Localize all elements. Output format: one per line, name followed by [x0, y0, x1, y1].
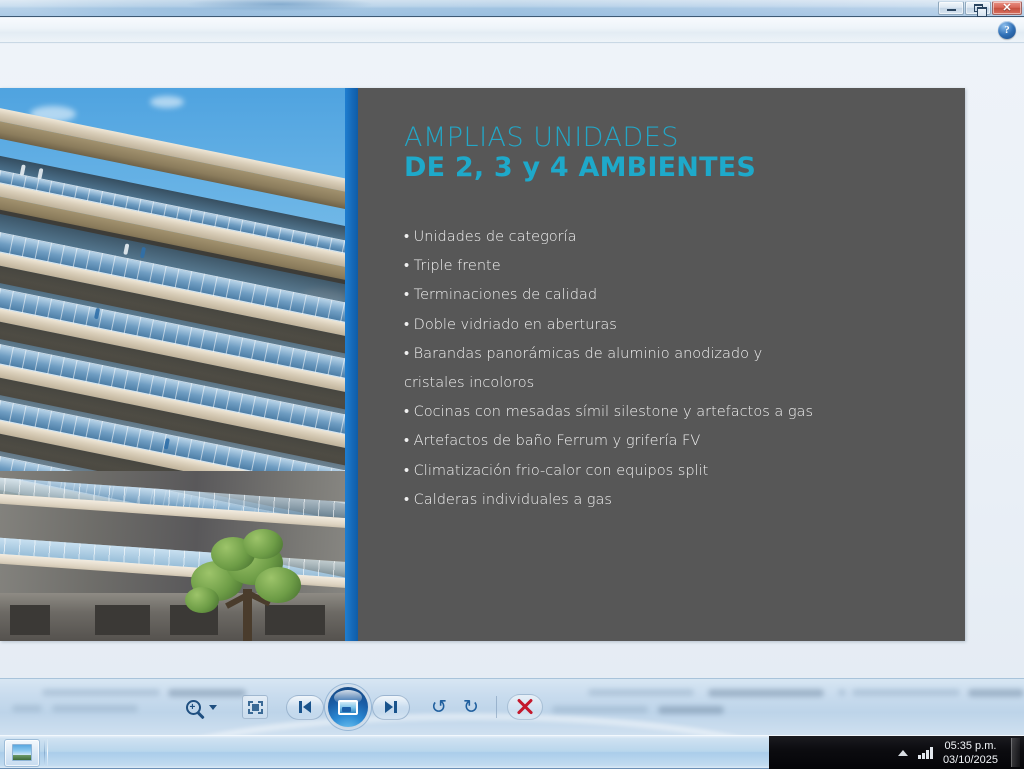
- toolbar-divider: [496, 696, 497, 718]
- fit-to-window-button[interactable]: [242, 695, 268, 719]
- upper-toolbar: ?: [0, 18, 1024, 43]
- list-item: • Doble vidriado en aberturas: [404, 311, 949, 340]
- image-viewer-canvas[interactable]: AMPLIAS UNIDADES DE 2, 3 y 4 AMBIENTES •…: [0, 44, 1024, 678]
- slide-bullet-list: • Unidades de categoría • Triple frente …: [404, 223, 949, 515]
- displayed-image: AMPLIAS UNIDADES DE 2, 3 y 4 AMBIENTES •…: [0, 88, 965, 641]
- list-item: • Climatización frio-calor con equipos s…: [404, 457, 949, 486]
- delete-x-icon: [513, 695, 537, 719]
- list-item: • Cocinas con mesadas símil silestone y …: [404, 398, 949, 427]
- next-button[interactable]: [372, 695, 410, 720]
- photo-viewer-window: ✕ ?: [0, 0, 1024, 735]
- rotate-counterclockwise-button[interactable]: ↺: [426, 695, 452, 719]
- taskbar: 05:35 p.m. 03/10/2025: [0, 735, 1024, 768]
- list-item: • Unidades de categoría: [404, 223, 949, 252]
- close-icon: ✕: [993, 2, 1021, 14]
- clock-date: 03/10/2025: [943, 753, 998, 767]
- caret-down-icon: [209, 705, 217, 710]
- list-item: cristales incoloros: [404, 369, 949, 398]
- titlebar-glint: [150, 0, 410, 14]
- minimize-button[interactable]: [938, 1, 964, 15]
- clock-time: 05:35 p.m.: [943, 739, 998, 753]
- building-lower-floors: [0, 471, 345, 641]
- list-item: • Terminaciones de calidad: [404, 281, 949, 310]
- tree: [185, 517, 310, 641]
- taskbar-divider-highlight: [47, 739, 48, 766]
- building-photo: [0, 88, 345, 641]
- play-slideshow-button[interactable]: [328, 687, 368, 727]
- close-button[interactable]: ✕: [992, 1, 1022, 15]
- system-tray: 05:35 p.m. 03/10/2025: [769, 736, 1024, 769]
- list-item: • Triple frente: [404, 252, 949, 281]
- zoom-dropdown[interactable]: [206, 695, 220, 719]
- rotate-ccw-icon: ↺: [431, 698, 447, 717]
- magnifier-plus-icon: +: [186, 700, 201, 715]
- list-item: • Artefactos de baño Ferrum y grifería F…: [404, 427, 949, 456]
- help-label: ?: [1004, 24, 1010, 36]
- taskbar-divider: [44, 739, 45, 766]
- taskbar-app-buttons: [4, 738, 40, 767]
- slide-title-line-1: AMPLIAS UNIDADES: [404, 123, 944, 153]
- delete-button[interactable]: [507, 694, 543, 720]
- show-desktop-button[interactable]: [1011, 738, 1020, 767]
- photo-viewer-icon: [12, 744, 32, 761]
- skip-next-icon: [385, 701, 393, 713]
- signal-bars-icon[interactable]: [918, 746, 933, 759]
- slide-accent-stripe: [345, 88, 358, 641]
- slide-title-line-2: DE 2, 3 y 4 AMBIENTES: [404, 153, 944, 183]
- list-item: • Barandas panorámicas de aluminio anodi…: [404, 340, 949, 369]
- viewer-control-bar: +: [0, 678, 1024, 735]
- taskbar-item-photo-viewer[interactable]: [4, 739, 40, 767]
- window-titlebar[interactable]: ✕: [0, 0, 1024, 17]
- list-item: • Calderas individuales a gas: [404, 486, 949, 515]
- rotate-cw-icon: ↻: [463, 698, 479, 717]
- rotate-clockwise-button[interactable]: ↻: [458, 695, 484, 719]
- help-circle-icon[interactable]: ?: [998, 21, 1016, 39]
- skip-previous-icon: [299, 701, 302, 713]
- slide-title: AMPLIAS UNIDADES DE 2, 3 y 4 AMBIENTES: [404, 123, 944, 183]
- previous-button[interactable]: [286, 695, 324, 720]
- window-controls: ✕: [938, 1, 1022, 16]
- restore-icon: [966, 2, 990, 14]
- show-hidden-icons-icon[interactable]: [898, 750, 908, 756]
- clock[interactable]: 05:35 p.m. 03/10/2025: [943, 739, 998, 767]
- playback-controls: +: [180, 687, 543, 727]
- slide-text-panel: AMPLIAS UNIDADES DE 2, 3 y 4 AMBIENTES •…: [358, 88, 965, 641]
- slideshow-play-icon: [338, 700, 358, 715]
- restore-button[interactable]: [965, 1, 991, 15]
- zoom-button[interactable]: +: [180, 695, 206, 719]
- minimize-icon: [939, 2, 963, 14]
- fit-to-window-icon: [248, 701, 263, 714]
